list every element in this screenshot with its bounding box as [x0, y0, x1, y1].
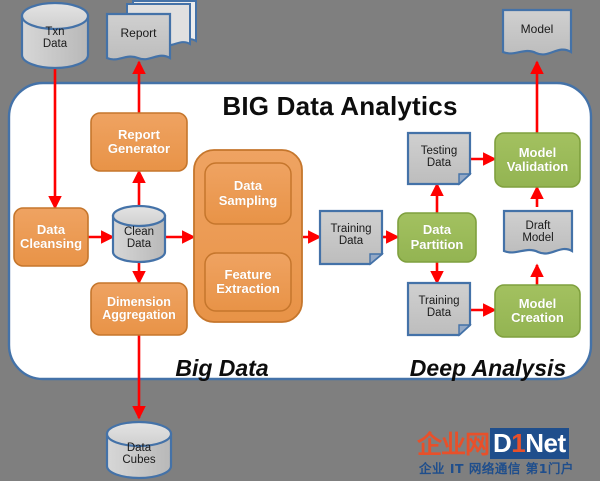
node-dimension-aggregation[interactable] — [91, 283, 187, 335]
node-model[interactable] — [503, 10, 571, 54]
node-data-cubes[interactable] — [107, 422, 171, 478]
node-testing-data[interactable] — [408, 133, 470, 184]
node-clean-data[interactable] — [113, 206, 165, 262]
node-model-creation[interactable] — [495, 285, 580, 337]
node-report-generator[interactable] — [91, 113, 187, 171]
page-title: BIG Data Analytics — [195, 90, 485, 122]
node-draft-model[interactable] — [504, 211, 572, 254]
node-report[interactable] — [107, 1, 196, 59]
node-data-partition[interactable] — [398, 213, 476, 262]
node-data-sampling[interactable] — [205, 163, 291, 224]
node-data-cleansing[interactable] — [14, 208, 88, 266]
node-training-data-2[interactable] — [408, 283, 470, 335]
node-model-validation[interactable] — [495, 133, 580, 187]
node-txn-data[interactable] — [22, 3, 88, 68]
node-training-data-main[interactable] — [320, 211, 382, 264]
diagram-canvas: BIG Data Analytics Txn Data Report Model… — [0, 0, 600, 481]
node-feature-extraction[interactable] — [205, 253, 291, 311]
diagram-svg — [0, 0, 600, 481]
section-label-big-data: Big Data — [152, 352, 292, 384]
section-label-deep-analysis: Deep Analysis — [388, 352, 588, 384]
